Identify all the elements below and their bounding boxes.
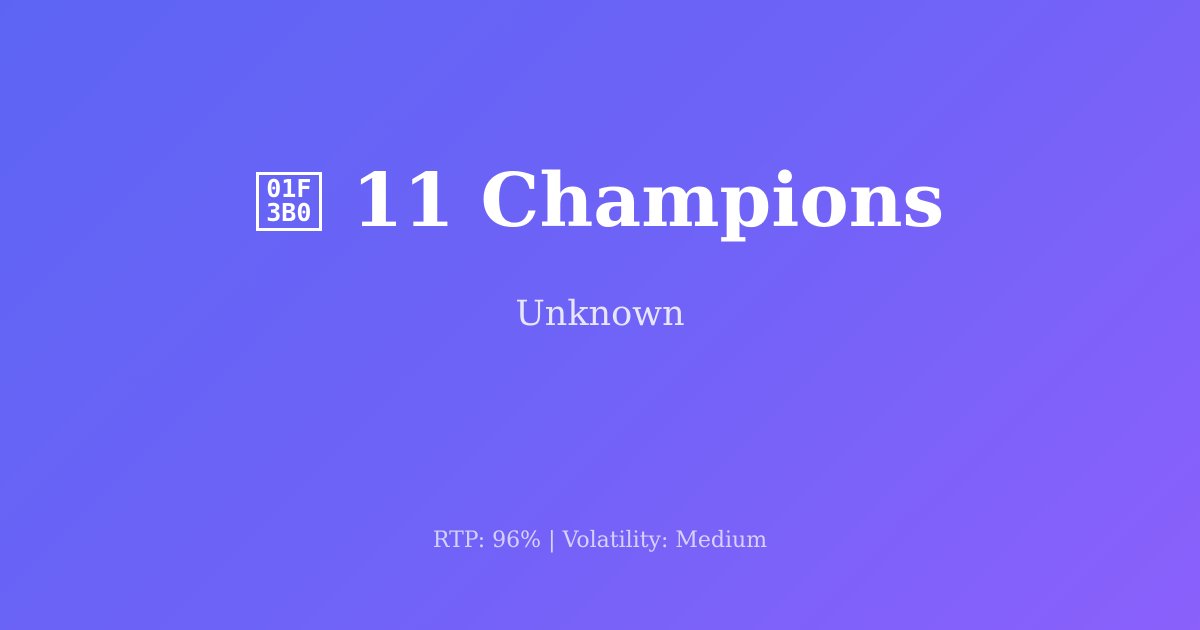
game-title: 11 Champions: [352, 164, 944, 238]
title-row: 01F 3B0 11 Champions: [256, 164, 944, 238]
slot-machine-icon: 01F 3B0: [256, 172, 322, 231]
og-share-card: 01F 3B0 11 Champions Unknown RTP: 96% | …: [0, 0, 1200, 630]
tofu-hex-bottom: 3B0: [266, 201, 311, 225]
card-main-content: 01F 3B0 11 Champions Unknown: [0, 0, 1200, 498]
game-provider: Unknown: [515, 294, 684, 334]
game-meta-line: RTP: 96% | Volatility: Medium: [0, 528, 1200, 553]
